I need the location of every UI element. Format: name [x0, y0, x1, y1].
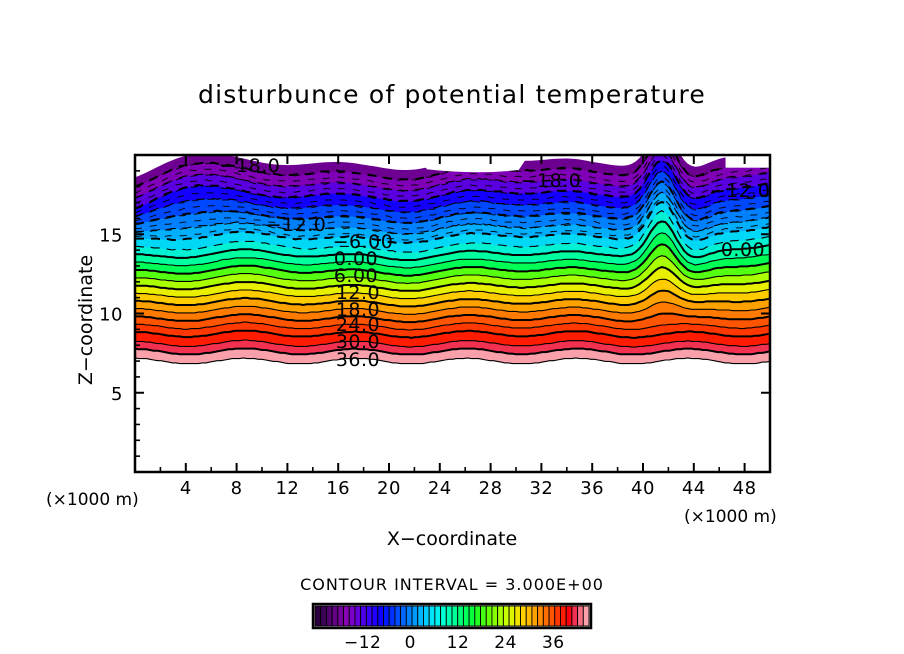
- colorbar-segment[interactable]: [492, 606, 498, 626]
- colorbar-segment[interactable]: [389, 606, 395, 626]
- y-tick-label: 15: [99, 225, 123, 246]
- x-tick-label: 24: [428, 478, 452, 499]
- colorbar-segment[interactable]: [578, 606, 584, 626]
- colorbar-segment[interactable]: [338, 606, 344, 626]
- contour-figure: −18.0−18.0−12.0−12.0−6.000.000.006.0012.…: [0, 0, 904, 654]
- colorbar-segment[interactable]: [538, 606, 544, 626]
- y-tick-label: 10: [99, 305, 123, 326]
- colorbar-segment[interactable]: [515, 606, 521, 626]
- field-bottom-mask: [135, 358, 770, 478]
- x-tick-label: 16: [326, 478, 350, 499]
- x-tick-label: 4: [180, 478, 192, 499]
- colorbar-segment[interactable]: [481, 606, 487, 626]
- colorbar-segment[interactable]: [395, 606, 401, 626]
- x-tick-label: 8: [231, 478, 243, 499]
- colorbar-segment[interactable]: [355, 606, 361, 626]
- contour-label: 0.00: [721, 239, 765, 261]
- colorbar-segment[interactable]: [344, 606, 350, 626]
- colorbar-tick-label: 0: [405, 633, 416, 653]
- figure-page: disturbunce of potential temperature −18…: [0, 0, 904, 654]
- contour-label: −18.0: [521, 170, 582, 192]
- colorbar-segment[interactable]: [332, 606, 338, 626]
- colorbar-segment[interactable]: [429, 606, 435, 626]
- contour-label: −12.0: [266, 214, 327, 236]
- colorbar-segment[interactable]: [526, 606, 532, 626]
- contour-label: −12.0: [710, 180, 771, 202]
- colorbar-caption: CONTOUR INTERVAL = 3.000E+00: [300, 575, 604, 594]
- colorbar-segment[interactable]: [498, 606, 504, 626]
- x-tick-label: 32: [529, 478, 553, 499]
- colorbar-segment[interactable]: [412, 606, 418, 626]
- x-unit-label: (×1000 m): [684, 507, 777, 527]
- colorbar-segment[interactable]: [463, 606, 469, 626]
- colorbar-segment[interactable]: [532, 606, 538, 626]
- colorbar-segment[interactable]: [321, 606, 327, 626]
- colorbar-segment[interactable]: [509, 606, 515, 626]
- x-tick-label: 20: [377, 478, 401, 499]
- x-axis-label: X−coordinate: [387, 528, 517, 550]
- colorbar-segment[interactable]: [475, 606, 481, 626]
- y-axis-label: Z−coordinate: [75, 255, 97, 385]
- x-tick-label: 44: [682, 478, 706, 499]
- colorbar-segment[interactable]: [555, 606, 561, 626]
- colorbar-segment[interactable]: [503, 606, 509, 626]
- colorbar-segment[interactable]: [441, 606, 447, 626]
- contour-label: −18.0: [220, 155, 281, 177]
- x-tick-label: 36: [580, 478, 604, 499]
- colorbar-segment[interactable]: [446, 606, 452, 626]
- colorbar-segment[interactable]: [361, 606, 367, 626]
- colorbar-segment[interactable]: [560, 606, 566, 626]
- colorbar-tick-label: 24: [494, 633, 517, 653]
- x-tick-label: 48: [733, 478, 757, 499]
- colorbar-segment[interactable]: [401, 606, 407, 626]
- colorbar-tick-label: 12: [447, 633, 470, 653]
- colorbar-segment[interactable]: [452, 606, 458, 626]
- x-tick-label: 40: [631, 478, 655, 499]
- x-tick-label: 12: [275, 478, 299, 499]
- colorbar-tick-label: 36: [542, 633, 565, 653]
- colorbar-tick-label: −12: [344, 633, 381, 653]
- colorbar-segment[interactable]: [315, 606, 321, 626]
- colorbar-segment[interactable]: [521, 606, 527, 626]
- colorbar[interactable]: [315, 606, 589, 626]
- x-tick-label: 28: [479, 478, 503, 499]
- colorbar-segment[interactable]: [583, 606, 589, 626]
- white-gap-right: [726, 155, 770, 168]
- white-gap: [421, 155, 529, 172]
- colorbar-segment[interactable]: [406, 606, 412, 626]
- y-tick-label: 5: [111, 384, 123, 405]
- colorbar-segment[interactable]: [435, 606, 441, 626]
- colorbar-segment[interactable]: [349, 606, 355, 626]
- contour-label: 36.0: [336, 349, 380, 371]
- colorbar-segment[interactable]: [566, 606, 572, 626]
- colorbar-segment[interactable]: [326, 606, 332, 626]
- colorbar-segment[interactable]: [469, 606, 475, 626]
- colorbar-segment[interactable]: [572, 606, 578, 626]
- colorbar-segment[interactable]: [366, 606, 372, 626]
- colorbar-segment[interactable]: [372, 606, 378, 626]
- colorbar-segment[interactable]: [384, 606, 390, 626]
- colorbar-segment[interactable]: [486, 606, 492, 626]
- colorbar-segment[interactable]: [543, 606, 549, 626]
- colorbar-segment[interactable]: [549, 606, 555, 626]
- colorbar-tick-labels: −120122436: [344, 633, 565, 653]
- colorbar-segment[interactable]: [378, 606, 384, 626]
- colorbar-segment[interactable]: [423, 606, 429, 626]
- colorbar-segment[interactable]: [458, 606, 464, 626]
- y-unit-label: (×1000 m): [46, 490, 139, 510]
- colorbar-segment[interactable]: [418, 606, 424, 626]
